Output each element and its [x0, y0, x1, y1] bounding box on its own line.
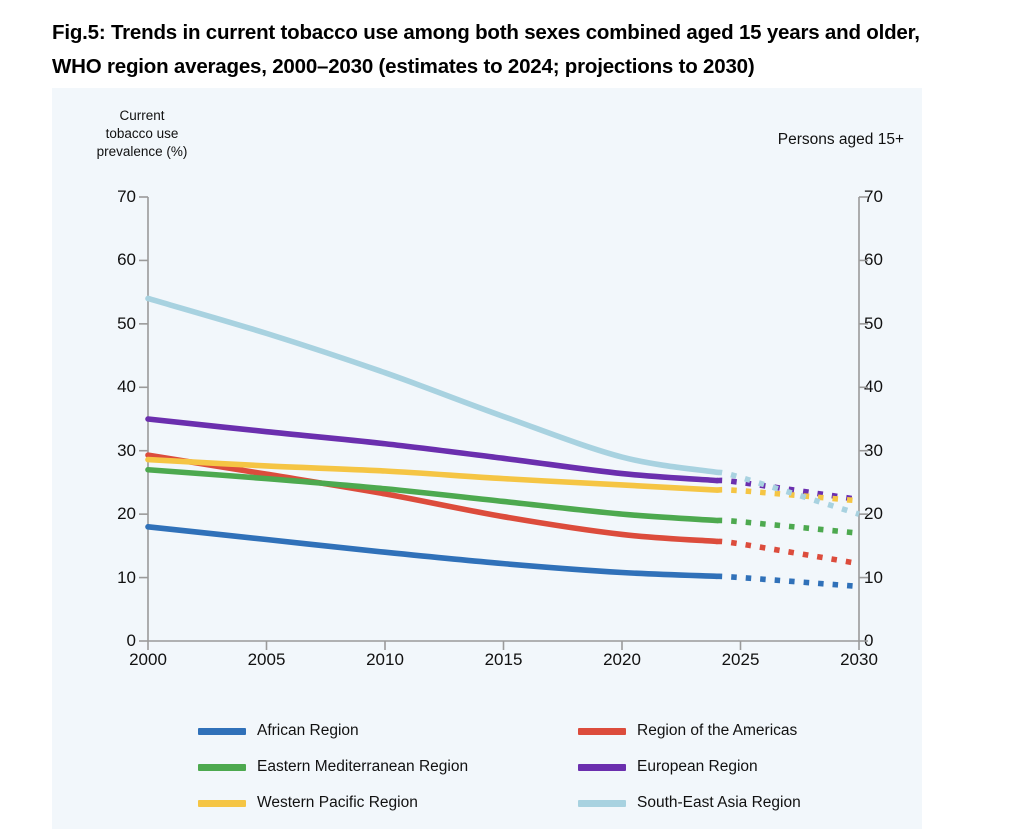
x-tick-label-2020: 2020 — [587, 650, 657, 670]
x-tick-label-2010: 2010 — [350, 650, 420, 670]
legend-item-region-of-the-americas[interactable]: Region of the Americas — [578, 722, 898, 740]
series-group — [148, 298, 859, 586]
legend-label: Region of the Americas — [637, 722, 797, 740]
legend-label: Eastern Mediterranean Region — [257, 758, 468, 776]
legend-swatch-icon — [198, 728, 246, 735]
y-tick-label-left-40: 40 — [92, 377, 136, 397]
y-tick-label-right-10: 10 — [864, 568, 908, 588]
y-tick-label-right-0: 0 — [864, 631, 908, 651]
legend-item-eastern-mediterranean-region[interactable]: Eastern Mediterranean Region — [198, 758, 578, 776]
plot-area — [148, 188, 859, 650]
legend-row: Western Pacific RegionSouth-East Asia Re… — [198, 785, 898, 821]
axes-group — [139, 197, 868, 650]
y-tick-label-left-30: 30 — [92, 441, 136, 461]
x-tick-label-2005: 2005 — [232, 650, 302, 670]
chart-panel: Current tobacco use prevalence (%) Perso… — [52, 88, 922, 829]
legend-item-european-region[interactable]: European Region — [578, 758, 898, 776]
legend-swatch-icon — [198, 764, 246, 771]
y-tick-label-left-10: 10 — [92, 568, 136, 588]
series-line-projection — [717, 520, 859, 533]
series-line-projection — [717, 541, 859, 563]
y-tick-label-left-20: 20 — [92, 504, 136, 524]
y-tick-label-left-50: 50 — [92, 314, 136, 334]
series-european-region — [148, 419, 859, 500]
series-line-estimate — [148, 298, 717, 472]
x-tick-label-2015: 2015 — [469, 650, 539, 670]
y-tick-label-right-60: 60 — [864, 250, 908, 270]
legend-row: African RegionRegion of the Americas — [198, 713, 898, 749]
y-tick-label-right-40: 40 — [864, 377, 908, 397]
figure-page: Fig.5: Trends in current tobacco use amo… — [0, 0, 1024, 829]
series-line-projection — [717, 472, 859, 514]
legend-swatch-icon — [578, 728, 626, 735]
y-tick-label-left-0: 0 — [92, 631, 136, 651]
series-african-region — [148, 527, 859, 587]
series-line-projection — [717, 576, 859, 586]
x-tick-label-2030: 2030 — [824, 650, 894, 670]
figure-title-line-2: WHO region averages, 2000–2030 (estimate… — [52, 50, 1012, 84]
y-tick-label-left-60: 60 — [92, 250, 136, 270]
series-line-estimate — [148, 470, 717, 521]
legend-swatch-icon — [198, 800, 246, 807]
y-tick-label-right-20: 20 — [864, 504, 908, 524]
chart-svg — [148, 188, 859, 650]
y-axis-label-line-2: tobacco use — [72, 125, 212, 143]
y-tick-label-left-70: 70 — [92, 187, 136, 207]
legend-swatch-icon — [578, 764, 626, 771]
legend-item-african-region[interactable]: African Region — [198, 722, 578, 740]
y-axis-label-line-3: prevalence (%) — [72, 143, 212, 161]
series-line-estimate — [148, 455, 717, 541]
persons-aged-annotation: Persons aged 15+ — [778, 131, 904, 149]
legend-label: Western Pacific Region — [257, 794, 418, 812]
legend-swatch-icon — [578, 800, 626, 807]
y-tick-label-right-30: 30 — [864, 441, 908, 461]
series-region-of-the-americas — [148, 455, 859, 563]
y-tick-label-right-50: 50 — [864, 314, 908, 334]
y-axis-label-line-1: Current — [72, 107, 212, 125]
legend-label: African Region — [257, 722, 359, 740]
legend-item-south-east-asia-region[interactable]: South-East Asia Region — [578, 794, 898, 812]
x-tick-label-2000: 2000 — [113, 650, 183, 670]
series-south-east-asia-region — [148, 298, 859, 514]
chart-legend: African RegionRegion of the AmericasEast… — [198, 713, 898, 821]
legend-item-western-pacific-region[interactable]: Western Pacific Region — [198, 794, 578, 812]
legend-label: South-East Asia Region — [637, 794, 801, 812]
figure-title-line-1: Fig.5: Trends in current tobacco use amo… — [52, 16, 1012, 50]
legend-row: Eastern Mediterranean RegionEuropean Reg… — [198, 749, 898, 785]
figure-title: Fig.5: Trends in current tobacco use amo… — [52, 16, 1012, 84]
legend-label: European Region — [637, 758, 758, 776]
y-tick-label-right-70: 70 — [864, 187, 908, 207]
x-tick-label-2025: 2025 — [706, 650, 776, 670]
y-axis-label: Current tobacco use prevalence (%) — [72, 107, 212, 161]
